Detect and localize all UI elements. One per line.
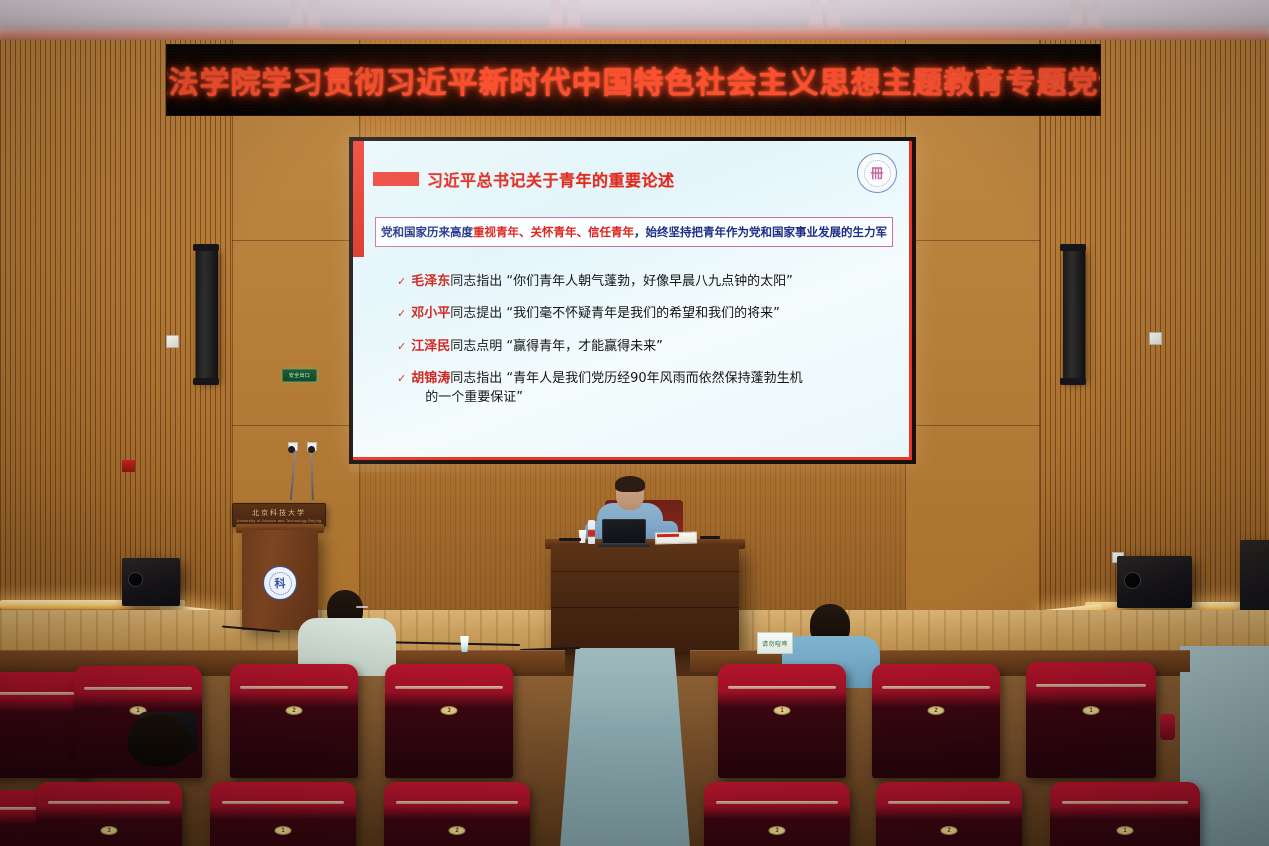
ceiling-light-cone bbox=[557, 0, 573, 28]
plaque-english-text: University of Science and Technology Bei… bbox=[237, 519, 322, 523]
table-notice-card: 请勿喧哗 bbox=[757, 632, 793, 654]
bullet-person: 邓小平 bbox=[411, 306, 450, 321]
glasses-icon bbox=[356, 606, 368, 608]
bullet-person: 胡锦涛 bbox=[411, 371, 450, 386]
plaque-chinese-text: 北京科技大学 bbox=[252, 508, 306, 518]
desk-microphone-right bbox=[700, 536, 720, 539]
university-seal-icon: 冊 bbox=[857, 153, 897, 193]
ceiling-light-cone bbox=[1077, 0, 1093, 28]
bullet-quote: 同志指出 “你们青年人朝气蓬勃，好像早晨八九点钟的太阳” bbox=[450, 274, 793, 289]
exit-sign-label: 安全出口 bbox=[289, 372, 310, 379]
seat-number-badge: 1 bbox=[1083, 706, 1100, 715]
seat[interactable]: 1 bbox=[210, 782, 356, 846]
bullet-text: 邓小平同志提出 “我们毫不怀疑青年是我们的希望和我们的将来” bbox=[411, 305, 780, 323]
slide-bullet-item: ✓ 胡锦涛同志指出 “青年人是我们党历经90年风雨而依然保持蓬勃生机的一个重要保… bbox=[397, 370, 895, 407]
seat-number-badge: 1 bbox=[774, 706, 791, 715]
seat[interactable]: 1 bbox=[1050, 782, 1200, 846]
slide-title-bar bbox=[373, 172, 419, 186]
seat-number-badge: 3 bbox=[441, 706, 458, 715]
speaker-table bbox=[551, 545, 739, 655]
subwoofer-port bbox=[1124, 572, 1141, 589]
banner-text: 文法学院学习贯彻习近平新时代中国特色社会主义思想主题教育专题党课 bbox=[166, 58, 1101, 102]
seat-number-badge: 2 bbox=[941, 826, 958, 835]
slide-subtitle: 党和国家历来高度重视青年、关怀青年、信任青年，始终坚持把青年作为党和国家事业发展… bbox=[381, 224, 887, 240]
document-red-header bbox=[657, 534, 679, 538]
laptop-screen[interactable] bbox=[602, 519, 646, 544]
bullet-quote: 同志点明 “赢得青年，才能赢得未来” bbox=[450, 339, 663, 354]
subwoofer-right-a bbox=[1117, 556, 1192, 608]
light-switch-left bbox=[166, 335, 179, 348]
seal-glyph: 冊 bbox=[870, 167, 883, 180]
speaker-hair bbox=[615, 476, 645, 492]
seat-number-badge: 1 bbox=[1117, 826, 1134, 835]
presentation-slide: 习近平总书记关于青年的重要论述 冊 党和国家历来高度重视青年、关怀青年、信任青年… bbox=[353, 141, 912, 460]
seat[interactable]: 1 bbox=[718, 664, 846, 778]
seat-number-badge: 2 bbox=[449, 826, 466, 835]
check-icon: ✓ bbox=[397, 305, 406, 323]
slide-left-accent-band bbox=[353, 141, 364, 257]
check-icon: ✓ bbox=[397, 273, 406, 291]
podium-seal-icon: 科 bbox=[263, 566, 297, 600]
bullet-text: 江泽民同志点明 “赢得青年，才能赢得未来” bbox=[411, 338, 663, 356]
attendee-back-row-head bbox=[128, 714, 190, 766]
bullet-person: 毛泽东 bbox=[411, 274, 450, 289]
bullet-text: 毛泽东同志指出 “你们青年人朝气蓬勃，好像早晨八九点钟的太阳” bbox=[411, 273, 793, 291]
fire-alarm-left bbox=[122, 460, 135, 472]
notice-card-text: 请勿喧哗 bbox=[762, 639, 788, 648]
mic-head-left-b bbox=[308, 446, 315, 453]
seat-number-badge: 3 bbox=[101, 826, 118, 835]
ceiling-light-cone bbox=[817, 0, 833, 28]
ceiling-light-cone bbox=[297, 0, 313, 28]
seat[interactable]: 3 bbox=[385, 664, 513, 778]
center-aisle bbox=[560, 648, 690, 846]
podium-seal-glyph: 科 bbox=[269, 572, 292, 595]
slide-bullet-list: ✓ 毛泽东同志指出 “你们青年人朝气蓬勃，好像早晨八九点钟的太阳” ✓ 邓小平同… bbox=[397, 273, 895, 421]
subtitle-tail: ，始终坚持把青年作为党和国家事业发展的生力军 bbox=[634, 225, 887, 239]
check-icon: ✓ bbox=[397, 370, 406, 388]
slide-header: 习近平总书记关于青年的重要论述 bbox=[373, 161, 843, 197]
seat-number-badge: 1 bbox=[275, 826, 292, 835]
bullet-quote-line2: 的一个重要保证” bbox=[411, 389, 802, 407]
subtitle-highlight: 重视青年、关怀青年、信任青年 bbox=[473, 225, 634, 239]
seat-number-badge: 2 bbox=[286, 706, 303, 715]
seal-ring: 冊 bbox=[864, 160, 891, 187]
seat-number-badge: 3 bbox=[769, 826, 786, 835]
desk-microphone-left bbox=[559, 538, 581, 541]
bullet-quote: 同志提出 “我们毫不怀疑青年是我们的希望和我们的将来” bbox=[450, 306, 780, 321]
led-banner: 文法学院学习贯彻习近平新时代中国特色社会主义思想主题教育专题党课 bbox=[166, 44, 1101, 116]
seat-number-badge: 2 bbox=[928, 706, 945, 715]
check-icon: ✓ bbox=[397, 338, 406, 356]
projection-screen[interactable]: 习近平总书记关于青年的重要论述 冊 党和国家历来高度重视青年、关怀青年、信任青年… bbox=[349, 137, 916, 464]
bullet-person: 江泽民 bbox=[411, 339, 450, 354]
seat[interactable]: 1 bbox=[1026, 662, 1156, 778]
slide-bullet-item: ✓ 江泽民同志点明 “赢得青年，才能赢得未来” bbox=[397, 338, 895, 356]
seat[interactable]: 3 bbox=[36, 782, 182, 846]
exit-sign-left: 安全出口 bbox=[282, 369, 317, 382]
seat[interactable]: 3 bbox=[704, 782, 850, 846]
laptop-keyboard[interactable] bbox=[598, 543, 650, 547]
slide-title: 习近平总书记关于青年的重要论述 bbox=[427, 167, 675, 191]
subtitle-lead: 党和国家历来高度 bbox=[381, 225, 473, 239]
right-column-speaker bbox=[1063, 248, 1085, 381]
subwoofer-port bbox=[128, 572, 143, 587]
slide-bullet-item: ✓ 邓小平同志提出 “我们毫不怀疑青年是我们的希望和我们的将来” bbox=[397, 305, 895, 323]
light-switch-right bbox=[1149, 332, 1162, 345]
bullet-text: 胡锦涛同志指出 “青年人是我们党历经90年风雨而依然保持蓬勃生机的一个重要保证” bbox=[411, 370, 802, 407]
slide-subtitle-box: 党和国家历来高度重视青年、关怀青年、信任青年，始终坚持把青年作为党和国家事业发展… bbox=[375, 217, 893, 247]
podium[interactable]: 科 bbox=[242, 530, 318, 630]
subwoofer-left-a bbox=[122, 558, 180, 606]
seat-armrest bbox=[1160, 714, 1175, 740]
seat[interactable]: 2 bbox=[876, 782, 1022, 846]
slide-bullet-item: ✓ 毛泽东同志指出 “你们青年人朝气蓬勃，好像早晨八九点钟的太阳” bbox=[397, 273, 895, 291]
seat[interactable]: 2 bbox=[230, 664, 358, 778]
lecture-hall-photo: 文法学院学习贯彻习近平新时代中国特色社会主义思想主题教育专题党课 习近平总书记关… bbox=[0, 0, 1269, 846]
seat[interactable]: 2 bbox=[872, 664, 1000, 778]
mic-head-left-a bbox=[288, 446, 295, 453]
water-bottle bbox=[588, 520, 595, 544]
left-column-speaker bbox=[196, 248, 218, 381]
seat[interactable]: 2 bbox=[384, 782, 530, 846]
bullet-quote: 同志指出 “青年人是我们党历经90年风雨而依然保持蓬勃生机 bbox=[450, 371, 802, 386]
